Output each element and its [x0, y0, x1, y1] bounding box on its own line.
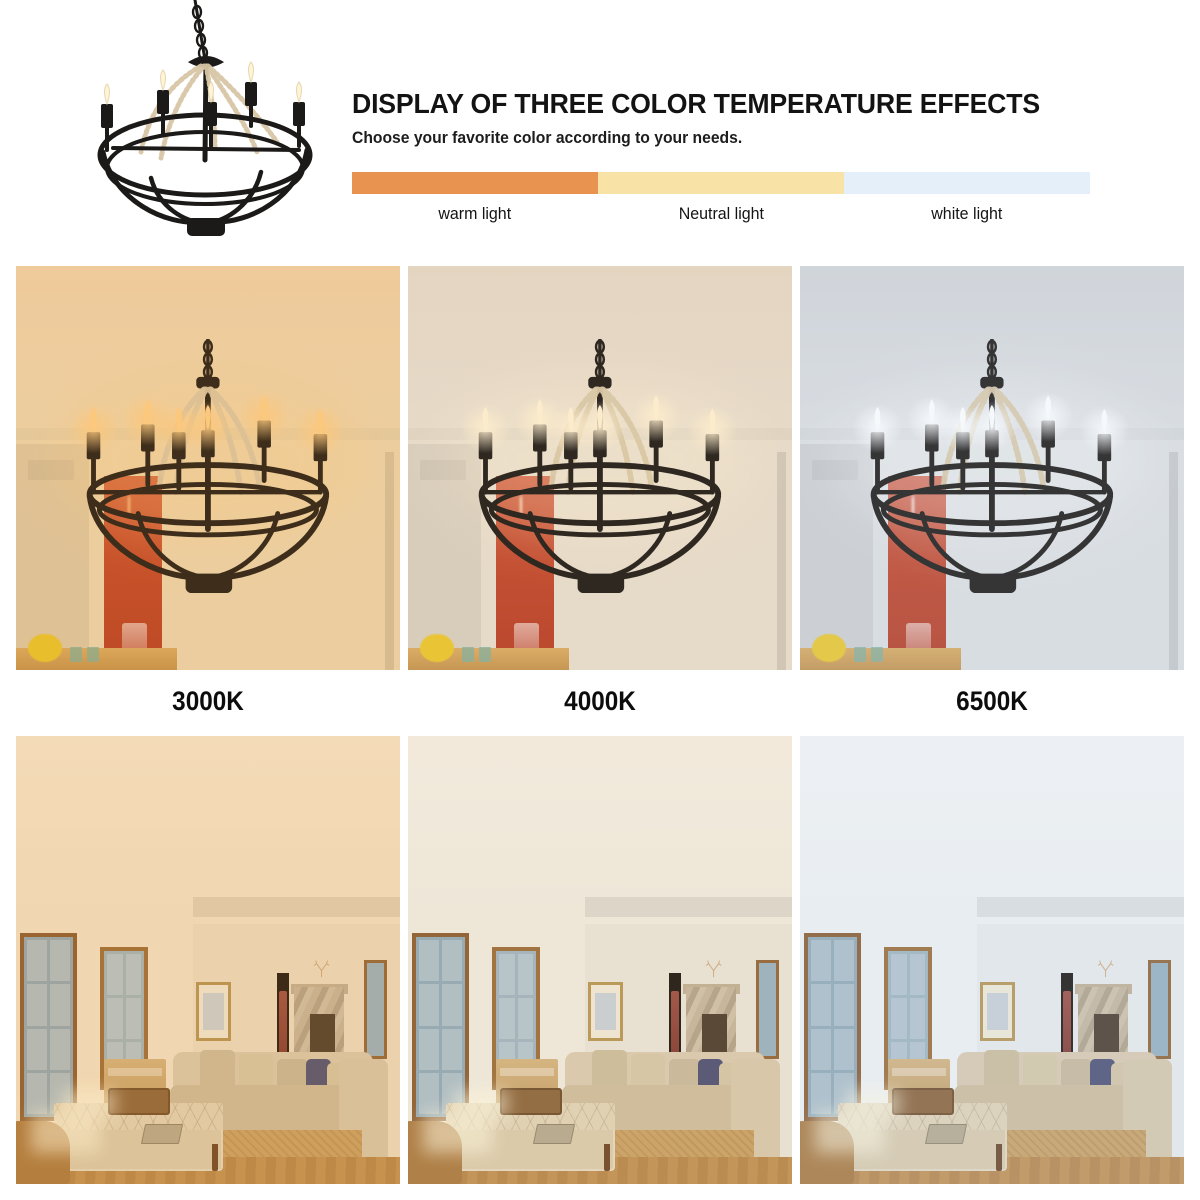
- green-cup: [87, 647, 99, 662]
- decor-tray: [108, 1088, 169, 1115]
- decor-tray: [892, 1088, 953, 1115]
- book: [925, 1124, 968, 1144]
- temp-legend-label: white light: [932, 204, 1003, 224]
- chandelier-fixture: [62, 339, 354, 630]
- living-room-scene: [408, 736, 792, 1184]
- chandelier-preview-6500K: [800, 266, 1184, 670]
- flower-vase: [420, 634, 455, 662]
- ceiling: [800, 736, 1184, 915]
- temp-legend-label: warm light: [438, 204, 511, 224]
- room-scene: [16, 266, 400, 670]
- ottoman-leg: [212, 1144, 218, 1171]
- living-room-scene: [16, 736, 400, 1184]
- kelvin-label-4000K: 4000K: [427, 680, 773, 722]
- framed-artwork: [196, 982, 231, 1040]
- book: [533, 1124, 576, 1144]
- sunlight-patch: [815, 1112, 884, 1152]
- room-scene: [800, 266, 1184, 670]
- ceiling-beam: [977, 897, 1184, 917]
- chandelier-preview-3000K: [16, 266, 400, 670]
- door-frame-right: [1169, 452, 1179, 670]
- header-text-block: DISPLAY OF THREE COLOR TEMPERATURE EFFEC…: [352, 88, 1112, 148]
- temperature-color-bar: [352, 172, 1090, 194]
- sunlight-patch: [423, 1112, 492, 1152]
- green-cup: [871, 647, 883, 662]
- ceiling: [16, 736, 400, 915]
- ceiling-beam: [585, 897, 792, 917]
- green-cup: [70, 647, 82, 662]
- page-subtitle: Choose your favorite color according to …: [352, 129, 1074, 148]
- window-far: [1148, 960, 1171, 1059]
- book: [141, 1124, 184, 1144]
- ottoman-leg: [604, 1144, 610, 1171]
- ottoman-leg: [996, 1144, 1002, 1171]
- room-preview-6500K: [800, 736, 1184, 1184]
- living-room-scene: [800, 736, 1184, 1184]
- header-section: DISPLAY OF THREE COLOR TEMPERATURE EFFEC…: [0, 0, 1200, 258]
- sunlight-patch: [454, 1090, 508, 1117]
- temperature-legend: warm lightNeutral lightwhite light: [352, 201, 1090, 227]
- framed-artwork: [588, 982, 623, 1040]
- chandelier-fixture: [846, 339, 1138, 630]
- flower-vase: [28, 634, 63, 662]
- chandelier-icon: [55, 0, 345, 250]
- sunlight-patch: [846, 1090, 900, 1117]
- chandelier-fixture: [454, 339, 746, 630]
- sunlight-patch: [62, 1090, 116, 1117]
- green-cup: [462, 647, 474, 662]
- antler-decor-icon: [1096, 953, 1115, 984]
- kelvin-label-6500K: 6500K: [819, 680, 1165, 722]
- ceiling-beam: [193, 897, 400, 917]
- kelvin-label-3000K: 3000K: [35, 680, 381, 722]
- temp-legend-item-2: white light: [844, 201, 1090, 227]
- antler-decor-icon: [312, 953, 331, 984]
- temp-bar-segment-2: [844, 172, 1090, 194]
- framed-artwork: [980, 982, 1015, 1040]
- temp-bar-segment-1: [598, 172, 844, 194]
- green-cup: [854, 647, 866, 662]
- decor-tray: [500, 1088, 561, 1115]
- room-scene: [408, 266, 792, 670]
- room-preview-3000K: [16, 736, 400, 1184]
- ceiling: [408, 736, 792, 915]
- temp-legend-label: Neutral light: [678, 204, 763, 224]
- temp-legend-item-1: Neutral light: [598, 201, 844, 227]
- window-far: [364, 960, 387, 1059]
- door-frame-right: [385, 452, 395, 670]
- chandelier-preview-4000K: [408, 266, 792, 670]
- room-preview-4000K: [408, 736, 792, 1184]
- antler-decor-icon: [704, 953, 723, 984]
- temp-legend-item-0: warm light: [352, 201, 598, 227]
- sunlight-patch: [31, 1112, 100, 1152]
- door-frame-right: [777, 452, 787, 670]
- green-cup: [479, 647, 491, 662]
- window-far: [756, 960, 779, 1059]
- temp-bar-segment-0: [352, 172, 598, 194]
- page-title: DISPLAY OF THREE COLOR TEMPERATURE EFFEC…: [352, 88, 1089, 120]
- flower-vase: [812, 634, 847, 662]
